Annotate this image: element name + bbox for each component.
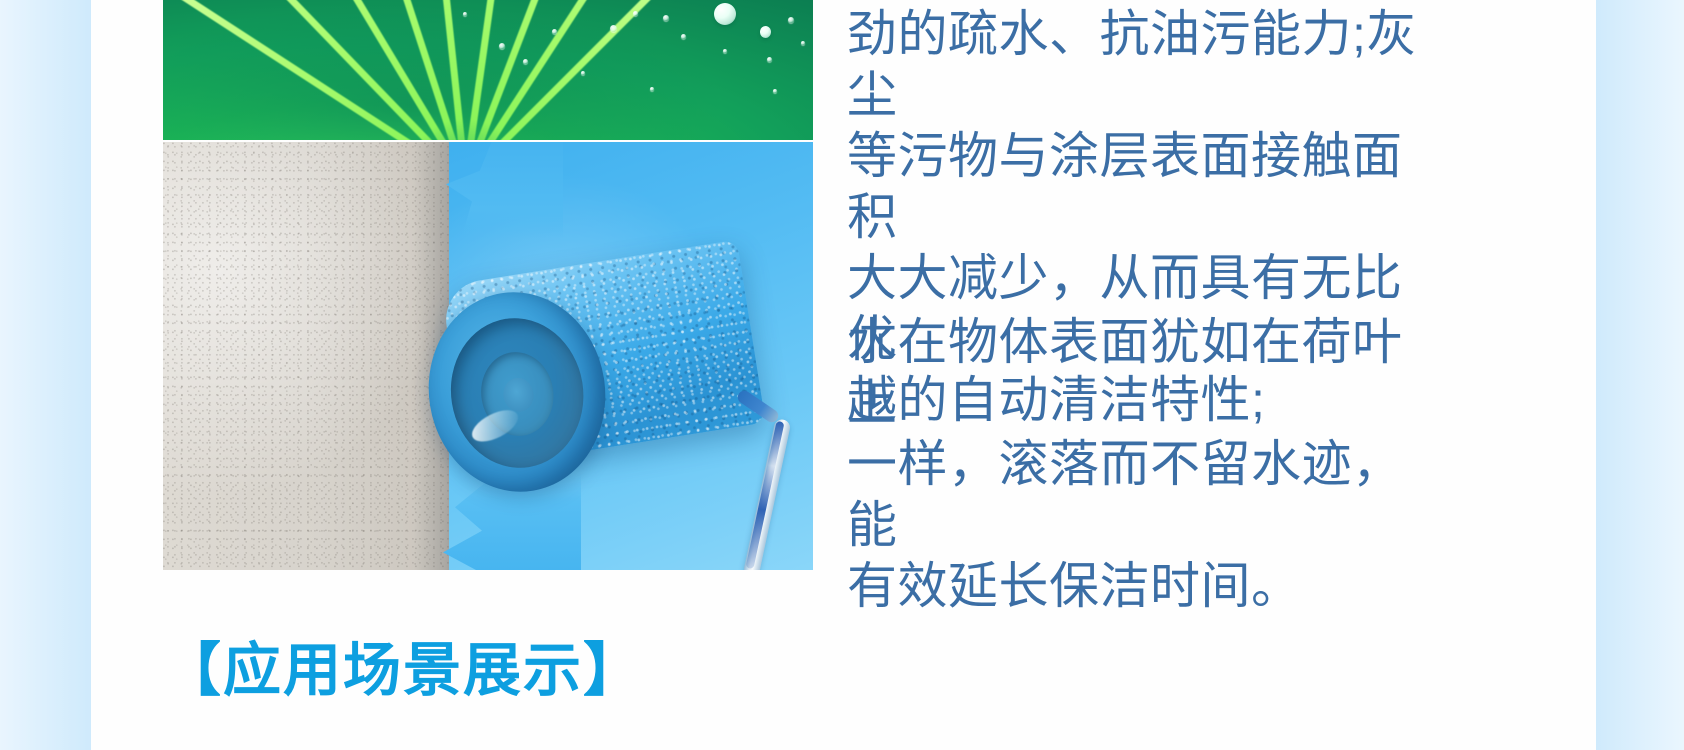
right-edge-strip bbox=[1596, 0, 1684, 750]
water-droplet bbox=[610, 25, 617, 32]
water-droplet bbox=[681, 34, 686, 39]
water-droplet bbox=[499, 43, 505, 49]
section-heading-application-scenarios: 【应用场景展示】 bbox=[163, 636, 643, 706]
water-droplet bbox=[767, 57, 772, 62]
water-droplet bbox=[650, 87, 654, 91]
content-column: 劲的疏水、抗油污能力;灰尘 等污物与涂层表面接触面积 大大减少，从而具有无比优 … bbox=[91, 0, 1596, 750]
left-edge-strip bbox=[0, 0, 91, 750]
unpainted-wall bbox=[163, 142, 449, 570]
water-droplet bbox=[801, 41, 805, 45]
leaf-veins bbox=[163, 0, 813, 140]
water-droplet bbox=[773, 89, 777, 93]
media-column bbox=[163, 0, 813, 570]
water-droplet bbox=[523, 59, 528, 64]
water-droplet bbox=[788, 17, 794, 23]
water-droplet bbox=[552, 29, 557, 34]
water-droplet bbox=[581, 71, 585, 75]
roller-cap-core bbox=[501, 376, 536, 414]
water-droplet bbox=[463, 12, 467, 16]
water-droplet bbox=[633, 11, 638, 16]
lotus-leaf-photo bbox=[163, 0, 813, 140]
roller-cap-ring bbox=[440, 309, 594, 478]
lotus-effect-paragraph: 水在物体表面犹如在荷叶上 一样，滚落而不留水迹，能 有效延长保洁时间。 bbox=[847, 312, 1447, 617]
product-detail-page: 劲的疏水、抗油污能力;灰尘 等污物与涂层表面接触面积 大大减少，从而具有无比优 … bbox=[0, 0, 1684, 750]
water-droplet bbox=[760, 26, 771, 38]
paint-roller-photo bbox=[163, 142, 813, 570]
water-droplet bbox=[714, 3, 736, 25]
water-droplet bbox=[663, 15, 669, 21]
water-droplet bbox=[723, 49, 727, 53]
